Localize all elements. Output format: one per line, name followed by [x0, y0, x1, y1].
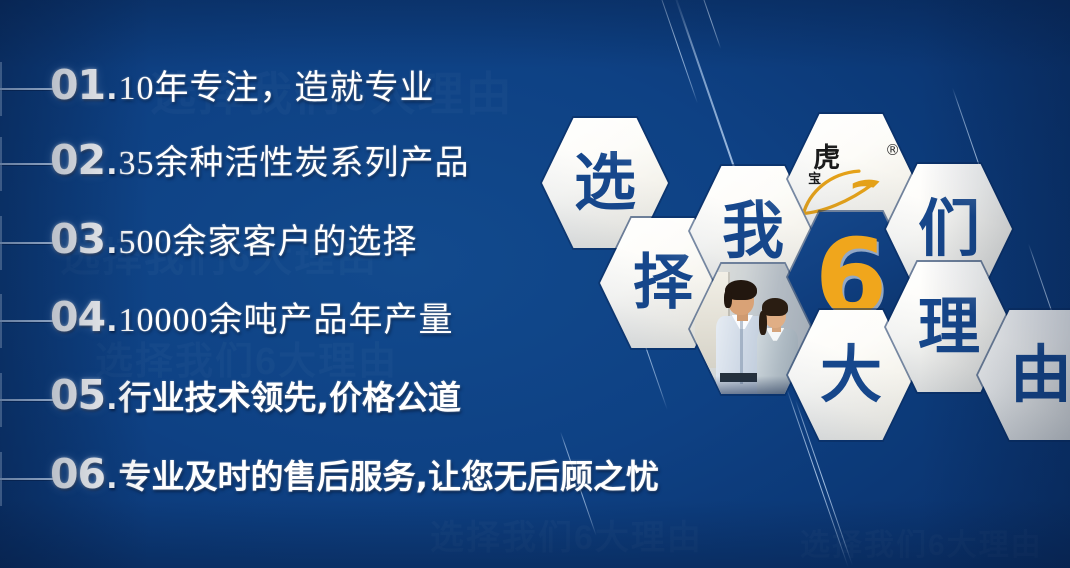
reason-row-02: 02 . 35余种活性炭系列产品: [50, 135, 469, 184]
hexagon-you-label: 由: [1010, 344, 1070, 406]
row-tick-cap-03: [0, 216, 2, 270]
reason-number-06: 06: [50, 454, 105, 495]
reason-sep-01: .: [106, 72, 117, 107]
promo-banner: 选择我们6大理由 选择我们6大理由 选择我们6大理由 选择我们6大理由 选择我们…: [0, 0, 1070, 568]
reason-text-01: 10年专注，造就专业: [118, 60, 434, 109]
registered-trademark-icon: ®: [885, 141, 900, 159]
reason-number-03: 03: [50, 219, 105, 260]
row-tick-01: [0, 88, 56, 90]
reason-row-04: 04 . 10000余吨产品年产量: [50, 292, 453, 341]
logo-character-hu: 虎: [813, 145, 839, 172]
reason-sep-06: .: [106, 461, 117, 496]
hexagon-wo-label: 我: [722, 200, 784, 262]
hexagon-ze-label: 择: [633, 253, 693, 313]
row-tick-cap-04: [0, 294, 2, 348]
reason-text-03: 500余家客户的选择: [118, 214, 417, 263]
hexagon-xuan-label: 选: [574, 152, 636, 214]
reason-row-03: 03 . 500余家客户的选择: [50, 214, 417, 263]
row-tick-cap-05: [0, 373, 2, 427]
row-tick-05: [0, 399, 56, 401]
reason-text-05: 行业技术领先,价格公道: [118, 371, 461, 419]
hexagon-cluster: 选 择 我: [520, 90, 1070, 460]
reason-sep-03: .: [106, 226, 117, 261]
logo-character-bao: 宝: [808, 173, 821, 186]
row-tick-04: [0, 320, 56, 322]
hexagon-men-label: 们: [918, 198, 980, 260]
reason-sep-05: .: [106, 382, 117, 417]
reason-row-05: 05 . 行业技术领先,价格公道: [50, 371, 461, 419]
reason-sep-04: .: [106, 304, 117, 339]
reason-number-02: 02: [50, 140, 105, 181]
row-tick-cap-06: [0, 452, 2, 506]
reason-text-02: 35余种活性炭系列产品: [118, 135, 469, 184]
row-tick-cap-01: [0, 62, 2, 116]
hexagon-da-label: 大: [820, 344, 882, 406]
reason-number-01: 01: [50, 65, 105, 106]
row-tick-06: [0, 478, 56, 480]
reason-text-04: 10000余吨产品年产量: [118, 292, 453, 341]
row-tick-03: [0, 242, 56, 244]
photo-man-sideburn: [724, 290, 732, 308]
row-tick-cap-02: [0, 137, 2, 191]
reason-number-05: 05: [50, 375, 105, 416]
photo-woman-ponytail: [759, 311, 767, 336]
row-tick-02: [0, 163, 56, 165]
reason-sep-02: .: [106, 147, 117, 182]
reason-number-04: 04: [50, 297, 105, 338]
hexagon-li-label: 理: [918, 296, 980, 358]
reason-row-01: 01 . 10年专注，造就专业: [50, 60, 434, 109]
